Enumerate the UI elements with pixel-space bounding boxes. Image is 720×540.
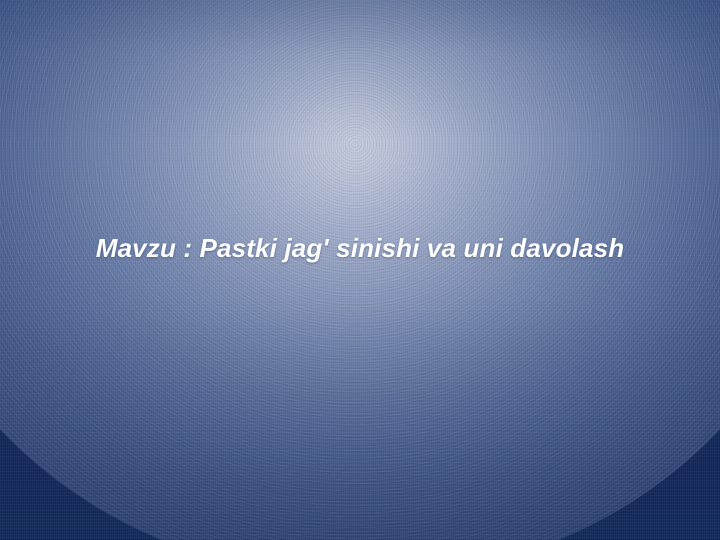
- presentation-slide: Mavzu : Pastki jag' sinishi va uni davol…: [0, 0, 720, 540]
- slide-title: Mavzu : Pastki jag' sinishi va uni davol…: [96, 232, 624, 265]
- title-placeholder: Mavzu : Pastki jag' sinishi va uni davol…: [0, 232, 720, 265]
- slide-background-disc: [0, 0, 720, 540]
